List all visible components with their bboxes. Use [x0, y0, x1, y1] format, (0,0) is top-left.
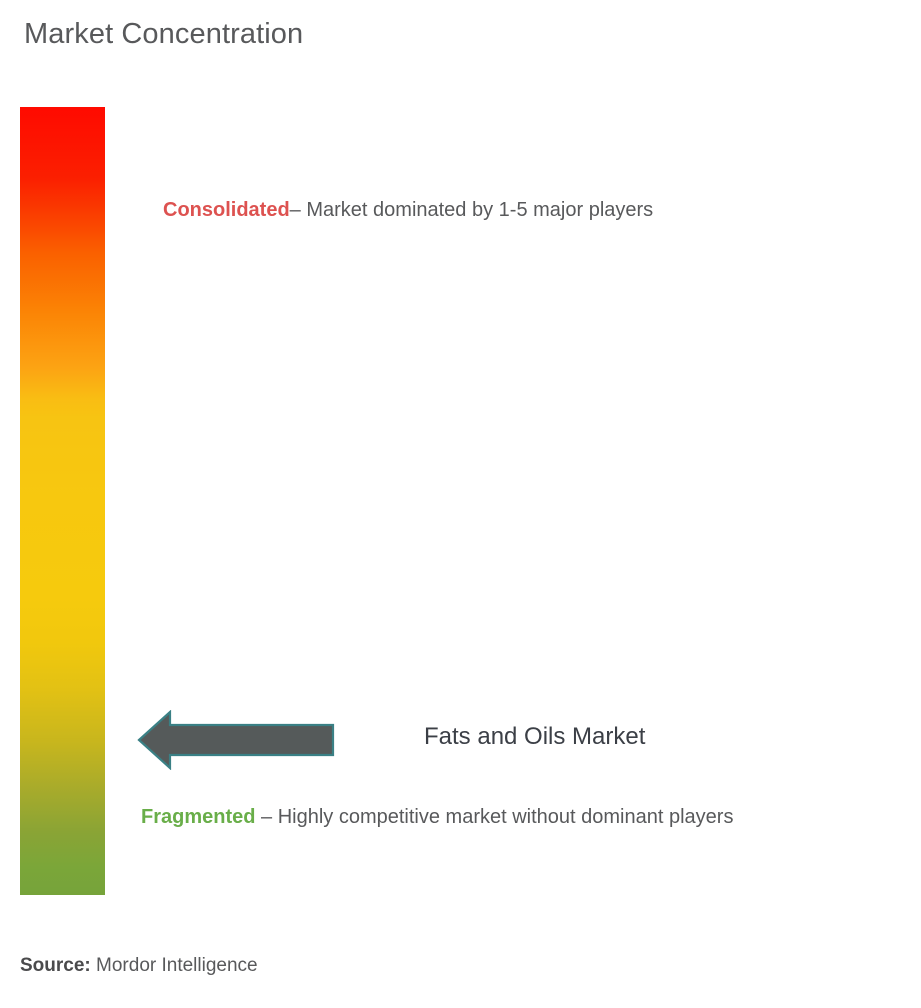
- market-marker-label: Fats and Oils Market: [424, 723, 645, 751]
- legend-keyword-fragmented: Fragmented: [141, 806, 255, 828]
- arrow-shape: [139, 712, 333, 768]
- legend-description-consolidated: – Market dominated by 1-5 major players: [290, 199, 654, 221]
- source-note: Source: Mordor Intelligence: [20, 955, 258, 977]
- source-value: Mordor Intelligence: [91, 955, 258, 976]
- legend-description-fragmented: – Highly competitive market without domi…: [255, 806, 733, 828]
- legend-keyword-consolidated: Consolidated: [163, 199, 290, 221]
- market-concentration-gradient-scale: [20, 107, 105, 895]
- source-label: Source:: [20, 955, 91, 976]
- left-arrow-marker-icon: [137, 710, 335, 770]
- legend-item-fragmented: Fragmented – Highly competitive market w…: [141, 802, 881, 833]
- page-title: Market Concentration: [24, 18, 303, 51]
- legend-item-consolidated: Consolidated– Market dominated by 1-5 ma…: [163, 195, 653, 226]
